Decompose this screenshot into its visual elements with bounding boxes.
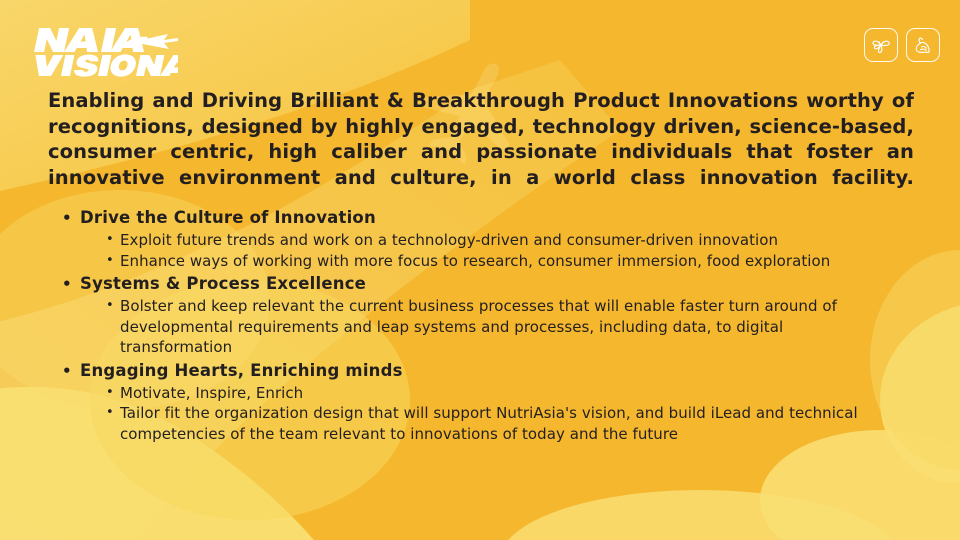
sub-bullet-list: • Bolster and keep relevant the current … — [62, 296, 922, 358]
list-item-text: Enhance ways of working with more focus … — [120, 251, 880, 272]
bg-blob-right-lower — [760, 430, 960, 540]
bullet-icon: • — [106, 230, 120, 251]
bullet-icon: • — [62, 359, 80, 383]
list-item-text: Tailor fit the organization design that … — [120, 403, 880, 444]
list-item-text: Motivate, Inspire, Enrich — [120, 383, 880, 404]
sub-bullet-list: • Exploit future trends and work on a te… — [62, 230, 922, 271]
bullet-icon: • — [106, 403, 120, 424]
content-list: • Drive the Culture of Innovation • Expl… — [62, 206, 922, 445]
list-item: • Bolster and keep relevant the current … — [106, 296, 922, 358]
butterfly-icon[interactable] — [864, 28, 898, 62]
list-item: • Enhance ways of working with more focu… — [106, 251, 922, 272]
bullet-icon: • — [106, 383, 120, 404]
slide-canvas: LIPAD • ANGAT • SOAR HIGHER Enabling and… — [0, 0, 960, 540]
list-item-text: Exploit future trends and work on a tech… — [120, 230, 880, 251]
list-item-text: Bolster and keep relevant the current bu… — [120, 296, 880, 358]
section-title: Systems & Process Excellence — [80, 272, 922, 296]
logo-visionair-text — [31, 54, 178, 76]
swan-icon[interactable] — [906, 28, 940, 62]
content-group: • Drive the Culture of Innovation • Expl… — [62, 206, 922, 271]
section-heading-engaging-hearts-enriching-minds: • Engaging Hearts, Enriching minds — [62, 359, 922, 383]
section-heading-systems-and-process-excellence: • Systems & Process Excellence — [62, 272, 922, 296]
bullet-icon: • — [106, 251, 120, 272]
content-group: • Engaging Hearts, Enriching minds • Mot… — [62, 359, 922, 445]
badge-group — [864, 28, 940, 62]
bullet-icon: • — [62, 206, 80, 230]
brand-logo: LIPAD • ANGAT • SOAR HIGHER — [28, 24, 178, 80]
list-item: • Exploit future trends and work on a te… — [106, 230, 922, 251]
section-title: Drive the Culture of Innovation — [80, 206, 922, 230]
list-item: • Tailor fit the organization design tha… — [106, 403, 922, 444]
sub-bullet-list: • Motivate, Inspire, Enrich • Tailor fit… — [62, 383, 922, 445]
bullet-icon: • — [62, 272, 80, 296]
section-title: Engaging Hearts, Enriching minds — [80, 359, 922, 383]
slide-heading: Enabling and Driving Brilliant & Breakth… — [48, 88, 914, 216]
content-group: • Systems & Process Excellence • Bolster… — [62, 272, 922, 358]
section-heading-drive-the-culture-of-innovation: • Drive the Culture of Innovation — [62, 206, 922, 230]
bullet-icon: • — [106, 296, 120, 317]
bg-blob-bottom-center — [500, 490, 900, 540]
list-item: • Motivate, Inspire, Enrich — [106, 383, 922, 404]
